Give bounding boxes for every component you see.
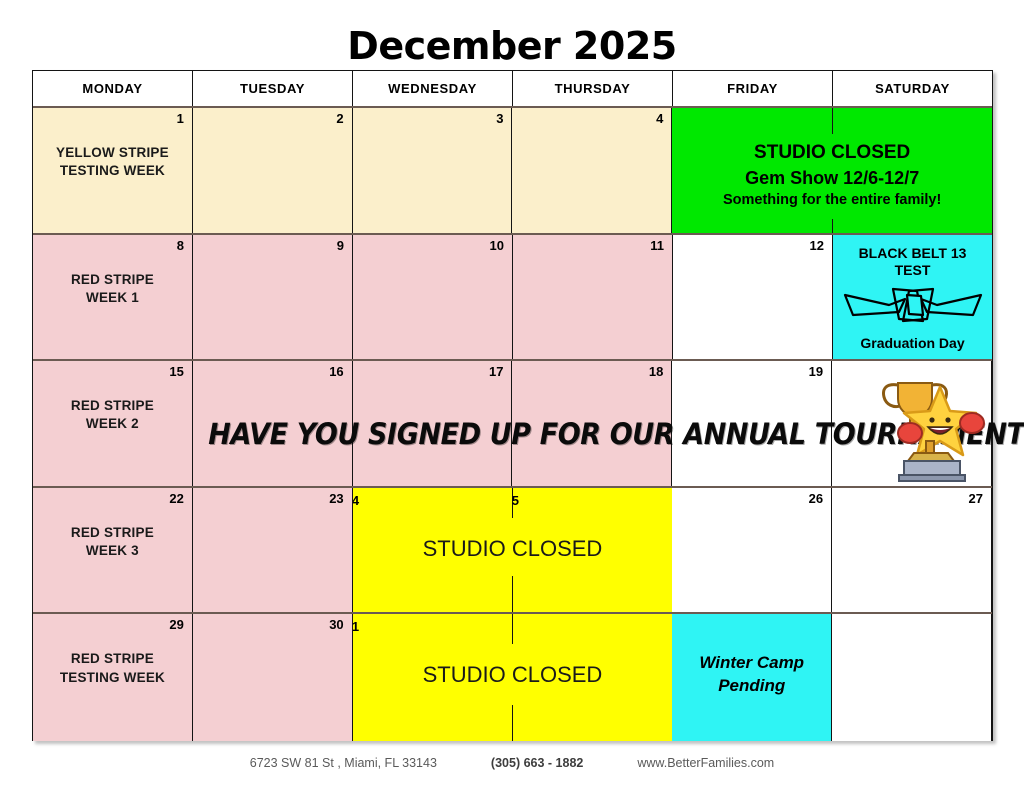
day-number: 27 (969, 492, 983, 506)
weekday-header-friday: FRIDAY (673, 71, 833, 106)
day-note: YELLOW STRIPETESTING WEEK (33, 144, 192, 180)
day-cell[interactable]: 10 (353, 235, 513, 360)
day-cell[interactable]: 9 (193, 235, 353, 360)
day-cell[interactable]: 6 (832, 108, 992, 233)
day-number: 31 (353, 619, 359, 634)
footer-phone: (305) 663 - 1882 (491, 756, 583, 770)
day-note: RED STRIPETESTING WEEK (33, 650, 192, 686)
day-number: 8 (177, 239, 184, 253)
weekday-header-saturday: SATURDAY (833, 71, 992, 106)
day-cell[interactable]: 1 (512, 614, 672, 741)
day-cell[interactable]: 5 (672, 108, 832, 233)
day-number: 19 (809, 365, 823, 379)
page-title: December 2025 (0, 24, 1024, 68)
calendar-grid: MONDAY TUESDAY WEDNESDAY THURSDAY FRIDAY… (32, 70, 993, 741)
week-row: 22 RED STRIPEWEEK 3 23 24 25 26 27 STUDI… (33, 488, 992, 615)
day-number: 9 (337, 239, 344, 253)
trophy-star-icon (868, 367, 988, 482)
week-row: 15 RED STRIPEWEEK 2 16 17 18 19 HAVE YOU… (33, 361, 992, 488)
day-cell[interactable]: 25 (512, 488, 672, 613)
weekday-header-tuesday: TUESDAY (193, 71, 353, 106)
day-cell-black-belt-test[interactable]: BLACK BELT 13TEST Graduation Day (833, 235, 992, 360)
day-note: RED STRIPEWEEK 3 (33, 524, 192, 560)
day-number: 1 (177, 112, 184, 126)
day-cell[interactable]: 18 (512, 361, 672, 486)
winter-camp-label: Winter CampPending (672, 652, 831, 698)
day-cell[interactable]: 30 (193, 614, 353, 741)
day-cell-winter-camp[interactable]: Winter CampPending (672, 614, 832, 741)
day-cell[interactable]: 24 (353, 488, 513, 613)
weekday-header-row: MONDAY TUESDAY WEDNESDAY THURSDAY FRIDAY… (33, 71, 992, 108)
day-cell[interactable]: 26 (672, 488, 832, 613)
day-number: 4 (656, 112, 663, 126)
day-cell[interactable]: 2 (193, 108, 353, 233)
day-number: 12 (810, 239, 824, 253)
day-cell[interactable]: 1 YELLOW STRIPETESTING WEEK (33, 108, 193, 233)
week-row: 8 RED STRIPEWEEK 1 9 10 11 12 BLACK BELT… (33, 235, 992, 362)
weekday-header-monday: MONDAY (33, 71, 193, 106)
day-number: 3 (496, 112, 503, 126)
footer-address: 6723 SW 81 St , Miami, FL 33143 (250, 756, 437, 770)
day-number: 10 (490, 239, 504, 253)
day-cell[interactable]: 31 (353, 614, 513, 741)
day-number: 29 (169, 618, 183, 632)
day-cell[interactable] (832, 614, 992, 741)
weekday-header-thursday: THURSDAY (513, 71, 673, 106)
day-number: 16 (329, 365, 343, 379)
day-cell[interactable]: 17 (353, 361, 513, 486)
day-number: 24 (353, 493, 359, 508)
day-cell[interactable]: 8 RED STRIPEWEEK 1 (33, 235, 193, 360)
calendar-page: December 2025 MONDAY TUESDAY WEDNESDAY T… (0, 0, 1024, 791)
weekday-header-wednesday: WEDNESDAY (353, 71, 513, 106)
day-cell[interactable]: 23 (193, 488, 353, 613)
day-cell[interactable]: 15 RED STRIPEWEEK 2 (33, 361, 193, 486)
day-cell[interactable]: 12 (673, 235, 833, 360)
day-number: 17 (489, 365, 503, 379)
day-cell[interactable]: 16 (193, 361, 353, 486)
day-note: RED STRIPEWEEK 1 (33, 271, 192, 307)
black-belt-test-label: BLACK BELT 13TEST (833, 245, 992, 280)
black-belt-icon (843, 285, 983, 327)
day-number: 30 (329, 618, 343, 632)
footer-website: www.BetterFamilies.com (637, 756, 774, 770)
day-cell[interactable]: 19 (672, 361, 832, 486)
day-cell[interactable]: 11 (513, 235, 673, 360)
day-cell[interactable]: 27 (832, 488, 992, 613)
week-row: 1 YELLOW STRIPETESTING WEEK 2 3 4 5 6 (33, 108, 992, 235)
day-number: 25 (512, 493, 518, 508)
day-cell[interactable]: 4 (512, 108, 672, 233)
day-cell[interactable]: 3 (353, 108, 513, 233)
day-note: RED STRIPEWEEK 2 (33, 397, 192, 433)
week-row: 29 RED STRIPETESTING WEEK 30 31 1 Winter… (33, 614, 992, 741)
day-number: 15 (169, 365, 183, 379)
footer: 6723 SW 81 St , Miami, FL 33143 (305) 66… (0, 756, 1024, 770)
day-cell[interactable]: 29 RED STRIPETESTING WEEK (33, 614, 193, 741)
day-number: 23 (329, 492, 343, 506)
graduation-day-label: Graduation Day (833, 335, 992, 351)
day-number: 2 (336, 112, 343, 126)
day-number: 22 (169, 492, 183, 506)
day-cell[interactable]: 22 RED STRIPEWEEK 3 (33, 488, 193, 613)
day-number: 26 (809, 492, 823, 506)
day-number: 18 (649, 365, 663, 379)
day-number: 11 (650, 239, 664, 253)
